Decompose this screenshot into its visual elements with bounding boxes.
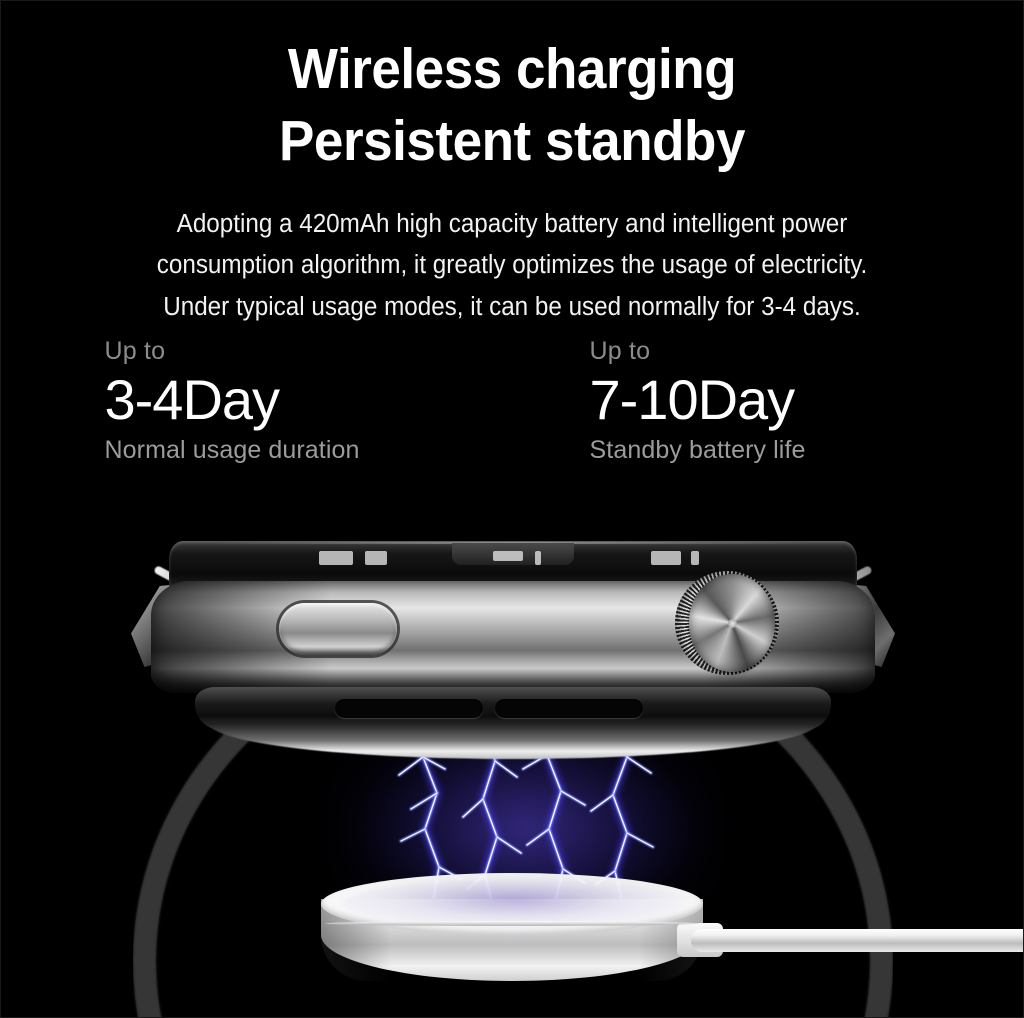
stat-prefix: Up to (590, 337, 920, 367)
battery-stats-row: Up to 3-4Day Normal usage duration Up to… (1, 337, 1023, 465)
screen-glyph-left (319, 551, 353, 565)
screen-glyph-center (493, 551, 523, 561)
charger-cable (691, 929, 1024, 952)
headline-line-1: Wireless charging (288, 37, 736, 101)
stat-value: 3-4Day (105, 369, 435, 432)
screen-glyph-left-2 (365, 551, 387, 565)
stat-prefix: Up to (105, 337, 435, 367)
description-line-1: Adopting a 420mAh high capacity battery … (27, 204, 998, 245)
screen-glyph-center-2 (535, 551, 541, 565)
description-paragraph: Adopting a 420mAh high capacity battery … (27, 204, 998, 328)
promo-page: Wireless charging Persistent standby Ado… (0, 0, 1024, 1018)
stat-standby: Up to 7-10Day Standby battery life (590, 337, 920, 465)
watch-side-button[interactable] (279, 603, 397, 655)
stat-caption: Standby battery life (590, 435, 920, 465)
page-title: Wireless charging Persistent standby (37, 33, 987, 178)
stat-caption: Normal usage duration (105, 435, 435, 465)
description-line-2: consumption algorithm, it greatly optimi… (27, 245, 998, 286)
screen-glyph-right-2 (691, 551, 699, 565)
wireless-charger-puck (321, 873, 703, 999)
watch-case (151, 541, 875, 741)
product-photo (1, 501, 1024, 1018)
stat-value: 7-10Day (590, 369, 920, 432)
watch-speaker-slot-1 (335, 699, 483, 718)
charger-seam-line (325, 921, 699, 926)
stat-normal-usage: Up to 3-4Day Normal usage duration (105, 337, 435, 465)
watch-crown-dial[interactable] (675, 571, 779, 675)
screen-glyph-right (651, 551, 681, 565)
headline-line-2: Persistent standby (37, 105, 987, 177)
crown-face (689, 574, 775, 672)
description-line-3: Under typical usage modes, it can be use… (27, 287, 998, 328)
watch-speaker-slot-2 (495, 699, 643, 718)
